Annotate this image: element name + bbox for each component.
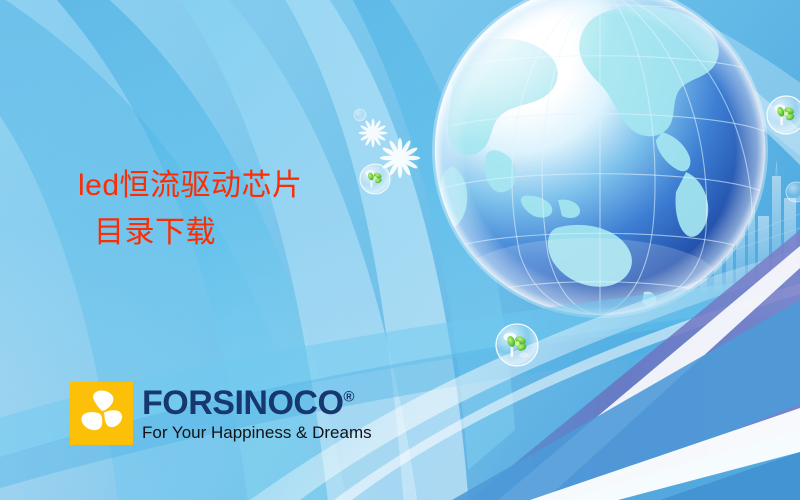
registered-trademark-icon: ® [343, 388, 354, 405]
banner-image: led恒流驱动芯片 目录下载 FORSINOCO® For Your Happi… [0, 0, 800, 500]
bubble-small-outline [354, 109, 366, 121]
bubble-with-green-pinwheel-lower [496, 324, 538, 366]
logo-wordmark-text: FORSINOCO [142, 384, 343, 422]
logo-tagline: For Your Happiness & Dreams [142, 423, 372, 442]
logo-text-block: FORSINOCO® For Your Happiness & Dreams [142, 386, 372, 442]
bubble-with-green-pinwheel-right [767, 96, 800, 134]
company-logo: FORSINOCO® For Your Happiness & Dreams [70, 382, 372, 445]
forsinoco-pinwheel-mark [70, 382, 133, 445]
logo-wordmark: FORSINOCO® [142, 386, 372, 420]
bubble-with-green-pinwheel-upper [360, 164, 390, 194]
